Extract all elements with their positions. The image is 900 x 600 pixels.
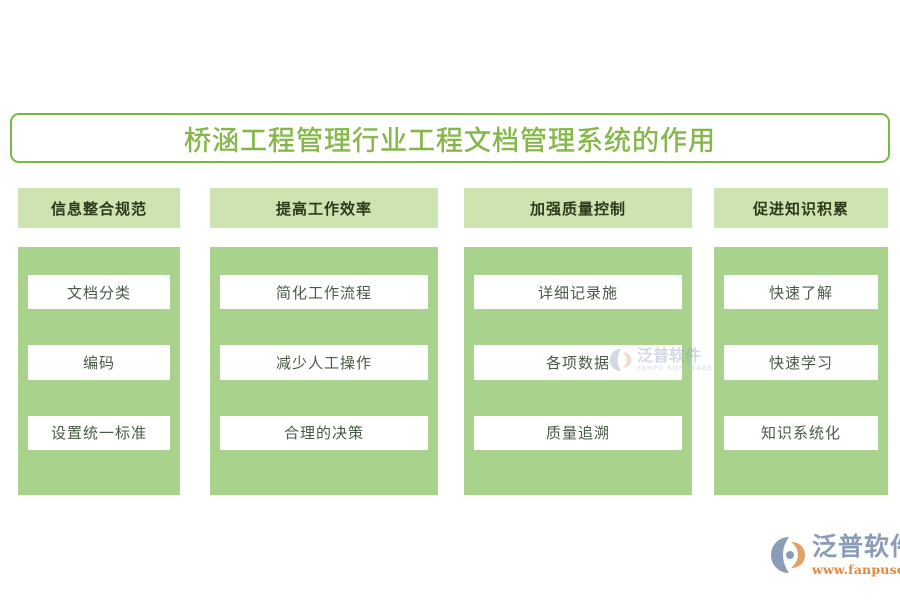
category-header-label: 加强质量控制	[530, 198, 626, 219]
list-item-label: 快速了解	[769, 282, 833, 303]
slide-title-box: 桥涵工程管理行业工程文档管理系统的作用	[10, 113, 890, 163]
list-item-label: 设置统一标准	[51, 422, 147, 443]
slide-canvas: 桥涵工程管理行业工程文档管理系统的作用 信息整合规范 文档分类 编码 设置统一标…	[0, 0, 900, 600]
list-item-label: 详细记录施	[538, 282, 618, 303]
category-header-2: 提高工作效率	[210, 188, 438, 228]
list-item[interactable]: 设置统一标准	[28, 416, 170, 450]
category-body-4: 快速了解 快速学习 知识系统化	[714, 247, 888, 495]
brand-url: www.fanpusoft.com	[812, 562, 900, 577]
list-item[interactable]: 快速了解	[724, 275, 878, 309]
list-item-label: 简化工作流程	[276, 282, 372, 303]
list-item-label: 减少人工操作	[276, 352, 372, 373]
list-item[interactable]: 合理的决策	[220, 416, 428, 450]
category-header-4: 促进知识积累	[714, 188, 888, 228]
brand-name: 泛普软件	[812, 533, 900, 561]
list-item[interactable]: 文档分类	[28, 275, 170, 309]
page-title: 桥涵工程管理行业工程文档管理系统的作用	[184, 119, 716, 158]
brand-logo-text: 泛普软件 www.fanpusoft.com	[812, 533, 900, 577]
fanpu-logo-icon	[768, 535, 808, 575]
category-body-1: 文档分类 编码 设置统一标准	[18, 247, 180, 495]
list-item[interactable]: 快速学习	[724, 345, 878, 379]
list-item[interactable]: 简化工作流程	[220, 275, 428, 309]
brand-logo: 泛普软件 www.fanpusoft.com	[768, 533, 900, 577]
category-column-2: 提高工作效率 简化工作流程 减少人工操作 合理的决策	[210, 188, 438, 495]
category-body-2: 简化工作流程 减少人工操作 合理的决策	[210, 247, 438, 495]
list-item[interactable]: 质量追溯	[474, 416, 682, 450]
list-item-label: 文档分类	[67, 282, 131, 303]
list-item[interactable]: 编码	[28, 345, 170, 379]
list-item-label: 编码	[83, 352, 115, 373]
category-body-3: 详细记录施 各项数据 质量追溯	[464, 247, 692, 495]
list-item-label: 各项数据	[546, 352, 610, 373]
list-item-label: 合理的决策	[284, 422, 364, 443]
category-column-1: 信息整合规范 文档分类 编码 设置统一标准	[18, 188, 180, 495]
category-header-label: 促进知识积累	[753, 198, 849, 219]
category-header-1: 信息整合规范	[18, 188, 180, 228]
list-item-label: 质量追溯	[546, 422, 610, 443]
list-item-label: 快速学习	[769, 352, 833, 373]
category-column-4: 促进知识积累 快速了解 快速学习 知识系统化	[714, 188, 888, 495]
category-header-3: 加强质量控制	[464, 188, 692, 228]
category-header-label: 信息整合规范	[51, 198, 147, 219]
list-item-label: 知识系统化	[761, 422, 841, 443]
list-item[interactable]: 详细记录施	[474, 275, 682, 309]
category-column-3: 加强质量控制 详细记录施 各项数据 质量追溯	[464, 188, 692, 495]
category-header-label: 提高工作效率	[276, 198, 372, 219]
list-item[interactable]: 知识系统化	[724, 416, 878, 450]
list-item[interactable]: 各项数据	[474, 345, 682, 379]
list-item[interactable]: 减少人工操作	[220, 345, 428, 379]
